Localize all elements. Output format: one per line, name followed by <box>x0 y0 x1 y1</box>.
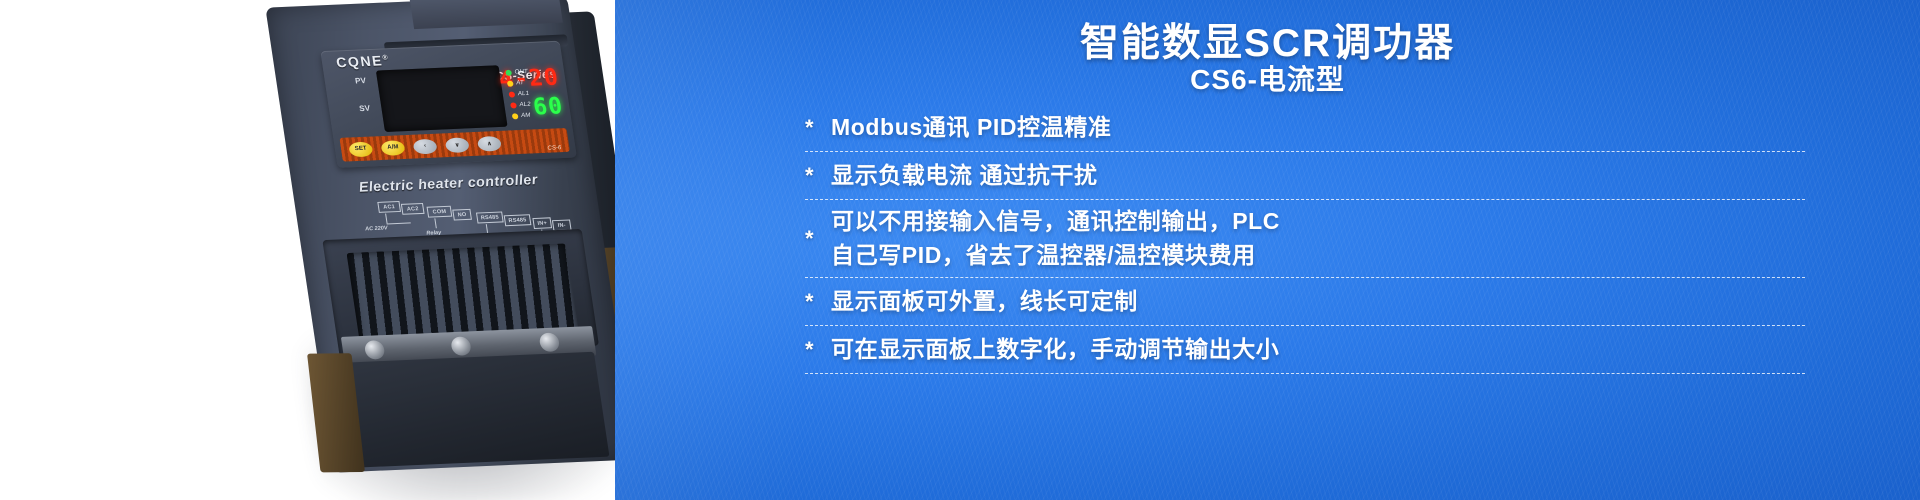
led-label-at: AT <box>516 80 525 86</box>
wire-ac-h <box>387 222 411 224</box>
scr-power-regulator-device: CQNE® CS-Series PV SV 4-20 60 OUT AT <box>226 0 615 500</box>
bullet-star-icon: * <box>805 165 831 187</box>
wire-relay <box>434 218 436 228</box>
terminal-ac2: AC2 <box>401 203 425 215</box>
led-label-out: OUT <box>514 68 528 75</box>
bullet-star-icon: * <box>805 228 831 250</box>
device-lower-block <box>341 352 610 468</box>
label-ac220v: AC 220V <box>365 225 388 232</box>
shift-left-button[interactable]: ‹ <box>412 138 437 154</box>
status-led-group: OUT AT AL1 AL2 <box>505 65 565 122</box>
led-dot-at <box>507 80 514 86</box>
led-dot-out <box>505 69 512 75</box>
product-photo-pane: CQNE® CS-Series PV SV 4-20 60 OUT AT <box>0 0 615 500</box>
bullet-star-icon: * <box>805 339 831 361</box>
increment-up-button[interactable]: ∧ <box>477 135 502 151</box>
terminal-in-plus: IN+ <box>532 217 552 229</box>
list-item: * Modbus通讯 PID控温精准 <box>805 104 1805 152</box>
feature-text: 显示负载电流 通过抗干扰 <box>831 159 1098 192</box>
pv-label: PV <box>355 76 367 85</box>
led-indicator-am: AM <box>511 108 565 121</box>
list-item: * 显示面板可外置，线长可定制 <box>805 278 1805 326</box>
led-label-al1: AL1 <box>517 90 529 96</box>
terminal-rs485-a: RS485 <box>476 211 504 223</box>
bullet-star-icon: * <box>805 291 831 313</box>
terminal-no: NO <box>452 209 472 221</box>
feature-list: * Modbus通讯 PID控温精准 * 显示负载电流 通过抗干扰 * 可以不用… <box>805 104 1805 374</box>
terminal-screw-1 <box>364 340 386 360</box>
list-item: * 显示负载电流 通过抗干扰 <box>805 152 1805 200</box>
decrement-down-button[interactable]: ∨ <box>445 137 470 153</box>
set-button[interactable]: SET <box>348 141 373 157</box>
feature-text: 显示面板可外置，线长可定制 <box>831 285 1138 318</box>
marketing-pane: 智能数显SCR调功器 CS6-电流型 * Modbus通讯 PID控温精准 * … <box>615 0 1920 500</box>
terminal-rs485-b: RS485 <box>504 214 532 226</box>
auto-manual-button[interactable]: A/M <box>380 140 405 156</box>
led-dot-al1 <box>508 91 515 97</box>
page-subtitle: CS6-电流型 <box>615 58 1920 98</box>
device-display-panel: CQNE® CS-Series PV SV 4-20 60 OUT AT <box>320 41 577 168</box>
terminal-ac1: AC1 <box>377 201 401 213</box>
terminal-com: COM <box>427 206 453 218</box>
bullet-star-icon: * <box>805 117 831 139</box>
brand-logo: CQNE® <box>335 52 391 70</box>
led-dot-am <box>512 113 519 119</box>
led-label-al2: AL2 <box>519 101 531 107</box>
keypad-strip: SET A/M ‹ ∨ ∧ CS-6 <box>339 128 570 162</box>
led-readout-screen <box>376 65 508 132</box>
wire-ac <box>385 214 387 224</box>
list-item: * 可在显示面板上数字化，手动调节输出大小 <box>805 326 1805 374</box>
terminal-screw-2 <box>450 336 472 356</box>
led-dot-al2 <box>510 102 517 108</box>
sv-label: SV <box>359 104 371 113</box>
product-banner: CQNE® CS-Series PV SV 4-20 60 OUT AT <box>0 0 1920 500</box>
feature-text: Modbus通讯 PID控温精准 <box>831 111 1111 144</box>
brand-name: CQNE <box>335 52 384 70</box>
registered-mark: ® <box>382 54 390 61</box>
feature-text: 可以不用接输入信号，通讯控制输出，PLC 自己写PID，省去了温控器/温控模块费… <box>831 205 1280 272</box>
feature-text: 可在显示面板上数字化，手动调节输出大小 <box>831 333 1279 366</box>
terminal-screw-3 <box>538 332 560 352</box>
led-label-am: AM <box>521 112 531 118</box>
list-item: * 可以不用接输入信号，通讯控制输出，PLC 自己写PID，省去了温控器/温控模… <box>805 200 1805 278</box>
panel-model-label: CS-6 <box>547 145 562 152</box>
